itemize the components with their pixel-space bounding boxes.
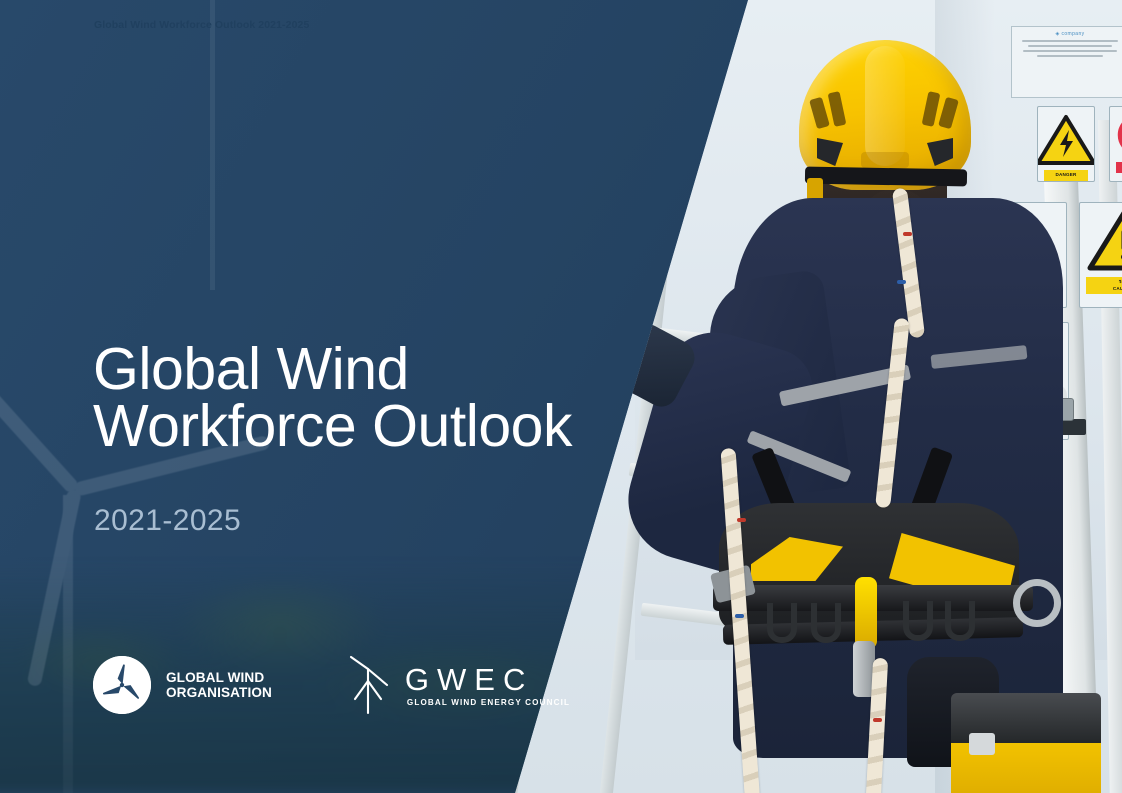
wind-technician — [687, 18, 1107, 793]
helmet-crest — [865, 46, 905, 166]
gwo-logo-line-1: GLOBAL WIND — [166, 670, 272, 685]
page-title-line-2: Workforce Outlook — [93, 398, 572, 455]
prohibition-circle-icon — [1116, 113, 1122, 157]
page-subtitle: 2021-2025 — [94, 504, 241, 538]
helmet-chin-strap — [805, 167, 967, 187]
gwo-logo-line-2: ORGANISATION — [166, 685, 272, 700]
toolbox — [951, 693, 1101, 793]
page-title-line-1: Global Wind — [93, 341, 572, 398]
cover-page: ◈ company DANGER — [0, 0, 1122, 793]
gwec-logo-text: GWEC GLOBAL WIND ENERGY COUNCIL — [405, 664, 570, 707]
gwo-logo[interactable]: GLOBAL WIND ORGANISATION — [93, 656, 272, 714]
gwec-tagline: GLOBAL WIND ENERGY COUNCIL — [407, 698, 570, 707]
harness-yellow-panel — [751, 537, 843, 581]
logo-row: GLOBAL WIND ORGANISATION GWEC GL — [93, 655, 570, 715]
harness-gear-loop — [945, 601, 975, 641]
toolbox-latch — [969, 733, 995, 755]
harness-gear-loop — [767, 603, 797, 643]
gwec-logo[interactable]: GWEC GLOBAL WIND ENERGY COUNCIL — [344, 655, 570, 715]
yellow-carabiner — [855, 577, 877, 649]
turbine-blade — [0, 337, 80, 495]
running-header: Global Wind Workforce Outlook 2021-2025 — [94, 19, 309, 31]
prohibition-sign-no-climb-small: NO ACCESS — [1109, 106, 1122, 182]
harness-d-ring — [1013, 579, 1061, 627]
turbine-blade — [27, 489, 82, 688]
harness-gear-loop — [811, 603, 841, 643]
page-title: Global Wind Workforce Outlook — [93, 341, 572, 455]
harness-gear-loop — [903, 601, 933, 641]
gwec-acronym: GWEC — [405, 664, 570, 696]
wind-turbine-rotor-icon — [93, 656, 151, 714]
sign-caption: NO ACCESS — [1116, 162, 1122, 173]
gwo-logo-text: GLOBAL WIND ORGANISATION — [166, 670, 272, 700]
wind-turbine-lineart-icon — [344, 655, 392, 715]
background-pole — [210, 0, 215, 290]
